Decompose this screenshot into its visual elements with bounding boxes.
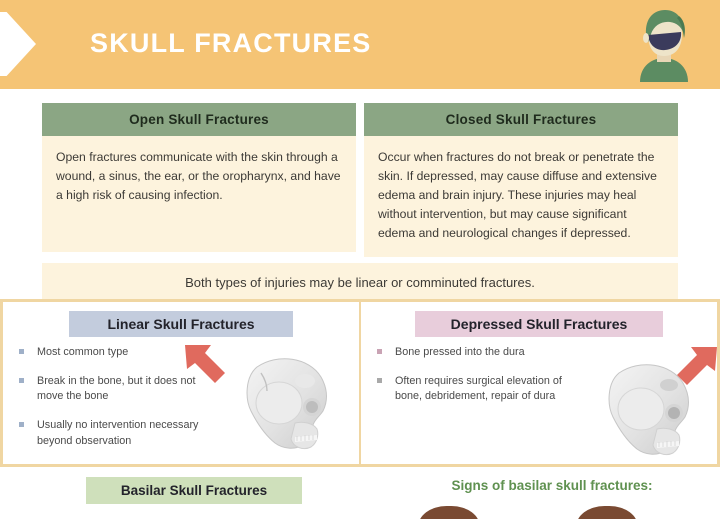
head-hair-illustration bbox=[418, 506, 480, 519]
depressed-panel-body: Bone pressed into the dura Often require… bbox=[371, 345, 707, 464]
linear-panel-body: Most common type Break in the bone, but … bbox=[13, 345, 349, 464]
definitions-row: Open Skull Fractures Open fractures comm… bbox=[42, 103, 678, 257]
linear-fracture-title: Linear Skull Fractures bbox=[69, 311, 293, 337]
linear-skull-figure bbox=[209, 345, 349, 464]
closed-fracture-column: Closed Skull Fractures Occur when fractu… bbox=[364, 103, 678, 257]
both-types-banner: Both types of injuries may be linear or … bbox=[42, 263, 678, 302]
infographic-page: SKULL FRACTURES Open Skull Fractures Ope… bbox=[0, 0, 720, 519]
basilar-fracture-title: Basilar Skull Fractures bbox=[86, 477, 302, 504]
linear-fracture-panel: Linear Skull Fractures Most common type … bbox=[0, 302, 361, 464]
page-header: SKULL FRACTURES bbox=[0, 0, 720, 89]
definitions-table: Open Skull Fractures Open fractures comm… bbox=[42, 103, 678, 302]
list-item: Usually no intervention necessary beyond… bbox=[17, 418, 209, 449]
page-title: SKULL FRACTURES bbox=[90, 28, 372, 59]
basilar-section: Basilar Skull Fractures Signs of basilar… bbox=[0, 470, 720, 519]
linear-bullet-list: Most common type Break in the bone, but … bbox=[13, 345, 209, 462]
open-fracture-text: Open fractures communicate with the skin… bbox=[42, 136, 356, 252]
closed-fracture-text: Occur when fractures do not break or pen… bbox=[364, 136, 678, 257]
list-item: Bone pressed into the dura bbox=[375, 345, 567, 361]
open-fracture-column: Open Skull Fractures Open fractures comm… bbox=[42, 103, 356, 257]
open-fracture-title: Open Skull Fractures bbox=[42, 103, 356, 136]
masked-medical-professional-avatar bbox=[632, 8, 696, 82]
depressed-fracture-panel: Depressed Skull Fractures Bone pressed i… bbox=[361, 302, 720, 464]
fracture-types-section: Linear Skull Fractures Most common type … bbox=[0, 299, 720, 467]
head-hair-illustration bbox=[576, 506, 638, 519]
depressed-bullet-list: Bone pressed into the dura Often require… bbox=[371, 345, 567, 418]
basilar-signs-title: Signs of basilar skull fractures: bbox=[418, 478, 686, 493]
list-item: Often requires surgical elevation of bon… bbox=[375, 374, 567, 405]
red-arrow-pointing-down-right bbox=[181, 341, 239, 397]
closed-fracture-title: Closed Skull Fractures bbox=[364, 103, 678, 136]
depressed-skull-figure bbox=[567, 345, 707, 464]
depressed-fracture-title: Depressed Skull Fractures bbox=[415, 311, 663, 337]
chevron-right-banner-icon bbox=[0, 12, 36, 76]
red-arrow-pointing-down-left bbox=[663, 343, 720, 399]
